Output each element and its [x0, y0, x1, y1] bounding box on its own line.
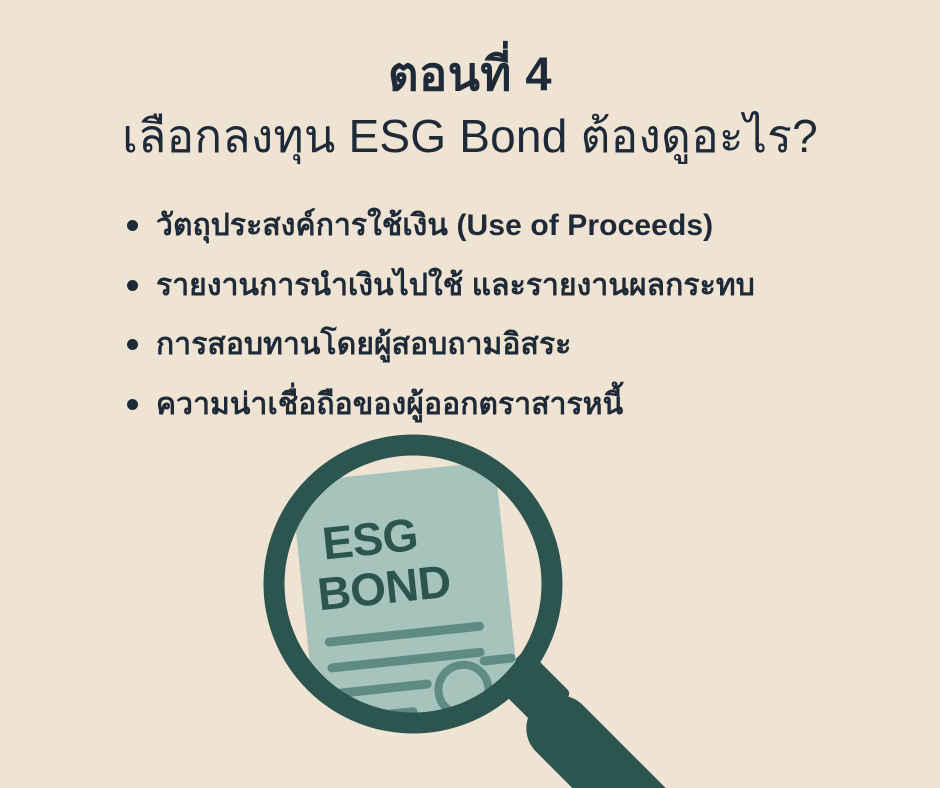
magnifier-illustration: ESG BOND	[248, 432, 718, 788]
page-title: เลือกลงทุน ESG Bond ต้องดูอะไร?	[0, 107, 940, 166]
bullet-dot-icon	[127, 399, 138, 410]
list-item: วัตถุประสงค์การใช้เงิน (Use of Proceeds)	[118, 206, 918, 246]
bullet-dot-icon	[127, 280, 138, 291]
section-label: ตอนที่ 4	[0, 46, 940, 101]
list-item: การสอบทานโดยผู้สอบถามอิสระ	[118, 325, 918, 365]
list-item: ความน่าเชื่อถือของผู้ออกตราสารหนี้	[118, 385, 918, 425]
heading-block: ตอนที่ 4 เลือกลงทุน ESG Bond ต้องดูอะไร?	[0, 46, 940, 166]
key-points-list: วัตถุประสงค์การใช้เงิน (Use of Proceeds)…	[118, 206, 918, 444]
list-item-label: วัตถุประสงค์การใช้เงิน (Use of Proceeds)	[156, 206, 918, 246]
slide-canvas: ตอนที่ 4 เลือกลงทุน ESG Bond ต้องดูอะไร?…	[0, 0, 940, 788]
list-item-label: การสอบทานโดยผู้สอบถามอิสระ	[156, 325, 918, 365]
bullet-dot-icon	[127, 339, 138, 350]
list-item-label: ความน่าเชื่อถือของผู้ออกตราสารหนี้	[156, 385, 918, 425]
bullet-dot-icon	[127, 220, 138, 231]
list-item: รายงานการนำเงินไปใช้ และรายงานผลกระทบ	[118, 266, 918, 306]
list-item-label: รายงานการนำเงินไปใช้ และรายงานผลกระทบ	[156, 266, 918, 306]
